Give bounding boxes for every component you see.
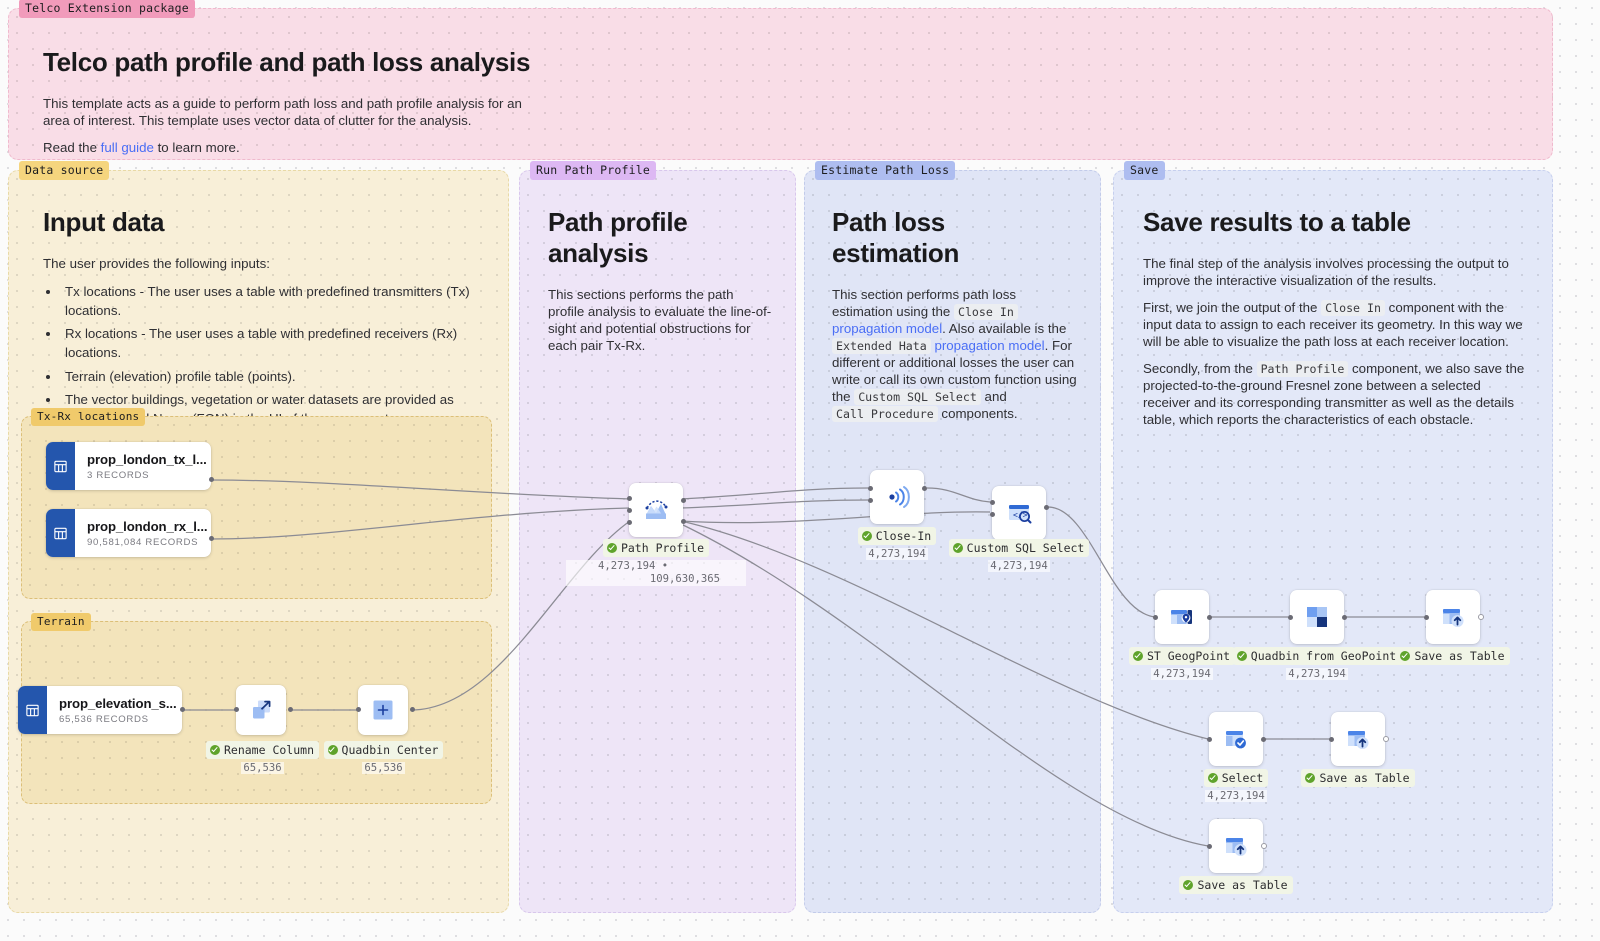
panel-telco-extension-package[interactable]: Telco Extension package Telco path profi… <box>8 8 1553 160</box>
node-save-as-table-3[interactable] <box>1209 819 1263 873</box>
save-title: Save results to a table <box>1143 207 1528 238</box>
save-paragraph-3: Secondly, from the Path Profile componen… <box>1143 360 1528 428</box>
panel-tag-telco-extension-package: Telco Extension package <box>19 0 195 18</box>
table-icon <box>46 442 75 490</box>
header-learn-more-text: to learn more. <box>154 140 240 155</box>
port-in-1[interactable] <box>990 500 995 505</box>
node-close-in[interactable] <box>870 470 924 524</box>
save-text-3a: Secondly, from the <box>1143 361 1257 376</box>
datasource-intro: The user provides the following inputs: <box>43 255 474 272</box>
port-in[interactable] <box>356 707 361 712</box>
port-in-2[interactable] <box>990 512 995 517</box>
port-in-2[interactable] <box>868 498 873 503</box>
port-in-1[interactable] <box>868 486 873 491</box>
runpath-paragraph: This sections performs the path profile … <box>548 286 773 354</box>
node-rename-column[interactable] <box>236 685 286 735</box>
panel-tag-save: Save <box>1124 161 1165 180</box>
chip-close-in-save: Close In <box>1321 300 1385 316</box>
node-save-as-table-2[interactable] <box>1331 712 1385 766</box>
node-save-as-table-1[interactable] <box>1426 590 1480 644</box>
save-table-icon <box>1343 724 1373 754</box>
chip-call-procedure: Call Procedure <box>832 406 938 422</box>
panel-tag-estimate-path-loss: Estimate Path Loss <box>815 161 955 180</box>
subgroup-tag-tx-rx-locations: Tx-Rx locations <box>31 408 145 426</box>
port-out[interactable] <box>209 536 214 541</box>
port-in[interactable] <box>1424 615 1429 620</box>
path-profile-icon <box>641 495 671 525</box>
port-in[interactable] <box>1207 737 1212 742</box>
port-out[interactable] <box>1044 505 1049 510</box>
node-records: 65,536 RECORDS <box>59 714 170 725</box>
table-icon <box>18 686 47 734</box>
port-out-2[interactable] <box>681 519 686 524</box>
sql-select-icon: </> <box>1004 498 1034 528</box>
quadbin-icon <box>1303 603 1331 631</box>
datasource-bullet-list: Tx locations - The user uses a table wit… <box>61 282 474 428</box>
header-read-the-text: Read the <box>43 140 101 155</box>
port-out[interactable] <box>1261 843 1267 849</box>
estimate-text-f: and <box>981 389 1007 404</box>
port-in[interactable] <box>1288 615 1293 620</box>
chip-path-profile-save: Path Profile <box>1257 361 1349 377</box>
save-table-icon <box>1221 831 1251 861</box>
subgroup-tag-terrain: Terrain <box>31 613 91 631</box>
node-prop-elevation[interactable]: prop_elevation_s... 65,536 RECORDS <box>18 686 182 734</box>
node-quadbin-center[interactable] <box>358 685 408 735</box>
node-path-profile[interactable] <box>629 483 683 537</box>
node-custom-sql-select[interactable]: </> <box>992 486 1046 540</box>
node-records: 3 RECORDS <box>87 470 199 481</box>
port-out-1[interactable] <box>681 498 686 503</box>
header-paragraph-1: This template acts as a guide to perform… <box>43 95 543 129</box>
panel-tag-run-path-profile: Run Path Profile <box>530 161 656 180</box>
estimate-text-g: components. <box>938 406 1018 421</box>
port-in[interactable] <box>1207 844 1212 849</box>
node-title: prop_london_tx_l... <box>87 452 199 467</box>
node-quadbin-from-geopoint[interactable] <box>1290 590 1344 644</box>
rename-column-icon <box>248 697 274 723</box>
chip-close-in: Close In <box>954 304 1018 320</box>
estimate-text-c: . Also available is the <box>942 321 1066 336</box>
port-out[interactable] <box>1342 615 1347 620</box>
port-in[interactable] <box>1153 615 1158 620</box>
port-in-1[interactable] <box>627 496 632 501</box>
port-out[interactable] <box>288 707 293 712</box>
quadbin-center-icon <box>370 697 396 723</box>
header-paragraph-2: Read the full guide to learn more. <box>43 139 1518 156</box>
list-item: Terrain (elevation) profile table (point… <box>61 367 474 386</box>
save-text-2a: First, we join the output of the <box>1143 300 1321 315</box>
page-title: Telco path profile and path loss analysi… <box>43 47 1518 78</box>
node-title: prop_london_rx_l... <box>87 519 199 534</box>
port-out[interactable] <box>1261 737 1266 742</box>
full-guide-link[interactable]: full guide <box>101 140 154 155</box>
port-in-3[interactable] <box>627 520 632 525</box>
port-in-2[interactable] <box>627 508 632 513</box>
port-out[interactable] <box>209 477 214 482</box>
chip-custom-sql-select: Custom SQL Select <box>854 389 981 405</box>
propagation-model-link-1[interactable]: propagation model <box>832 321 942 336</box>
node-title: prop_elevation_s... <box>59 696 170 711</box>
node-select[interactable] <box>1209 712 1263 766</box>
workflow-canvas[interactable]: Telco Extension package Telco path profi… <box>0 0 1600 941</box>
node-prop-london-rx[interactable]: prop_london_rx_l... 90,581,084 RECORDS <box>46 509 211 557</box>
select-icon <box>1221 724 1251 754</box>
geopoint-icon <box>1167 602 1197 632</box>
port-in[interactable] <box>1329 737 1334 742</box>
port-out[interactable] <box>1207 615 1212 620</box>
port-out[interactable] <box>1383 736 1389 742</box>
panel-save[interactable]: Save Save results to a table The final s… <box>1113 170 1553 913</box>
list-item: Rx locations - The user uses a table wit… <box>61 324 474 362</box>
panel-estimate-path-loss[interactable]: Estimate Path Loss Path loss estimation … <box>804 170 1101 913</box>
list-item: Tx locations - The user uses a table wit… <box>61 282 474 320</box>
datasource-title: Input data <box>43 207 474 238</box>
port-in[interactable] <box>234 707 239 712</box>
save-paragraph-1: The final step of the analysis involves … <box>1143 255 1528 289</box>
node-st-geogpoint[interactable] <box>1155 590 1209 644</box>
estimate-paragraph: This section performs path loss estimati… <box>832 286 1078 422</box>
propagation-model-link-2[interactable]: propagation model <box>934 338 1044 353</box>
panel-run-path-profile[interactable]: Run Path Profile Path profile analysis T… <box>519 170 796 913</box>
table-icon <box>46 509 75 557</box>
save-table-icon <box>1438 602 1468 632</box>
panel-tag-data-source: Data source <box>19 161 109 180</box>
node-prop-london-tx[interactable]: prop_london_tx_l... 3 RECORDS <box>46 442 211 490</box>
chip-extended-hata: Extended Hata <box>832 338 931 354</box>
port-out[interactable] <box>922 486 927 491</box>
save-paragraph-2: First, we join the output of the Close I… <box>1143 299 1528 350</box>
port-out[interactable] <box>410 707 415 712</box>
node-records: 90,581,084 RECORDS <box>87 537 199 548</box>
port-out[interactable] <box>180 707 185 712</box>
estimate-title: Path loss estimation <box>832 207 1078 269</box>
runpath-title: Path profile analysis <box>548 207 773 269</box>
port-out[interactable] <box>1478 614 1484 620</box>
signal-icon <box>882 482 912 512</box>
